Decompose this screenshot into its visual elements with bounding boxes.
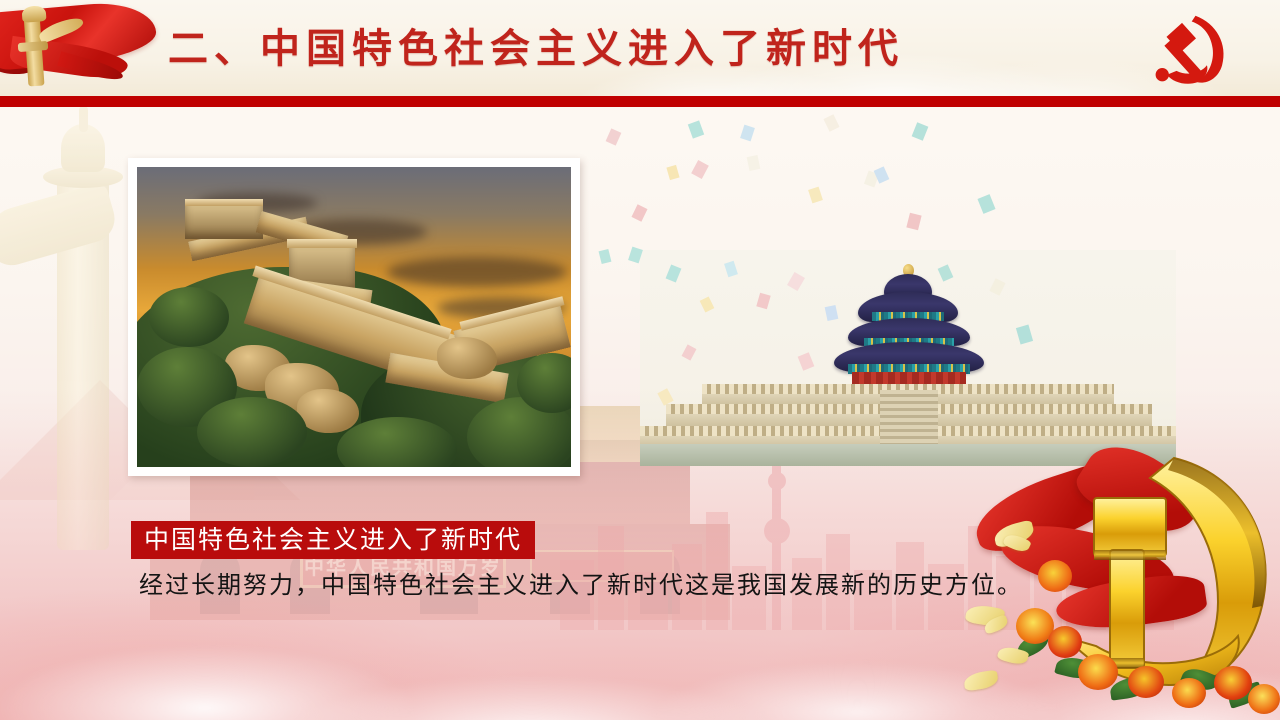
page-title: 二、中国特色社会主义进入了新时代	[168, 16, 904, 82]
party-emblem-decoration	[960, 440, 1280, 720]
slide-header: 二、中国特色社会主义进入了新时代	[0, 0, 1280, 96]
red-flag-icon	[0, 0, 190, 96]
hammer-and-sickle-icon	[1138, 12, 1234, 88]
flower-icon	[1248, 684, 1280, 714]
flower-icon	[1172, 678, 1206, 708]
temple-of-heaven-photo	[640, 250, 1176, 466]
flower-icon	[1214, 666, 1252, 700]
header-red-divider	[0, 96, 1280, 107]
flower-icon	[1038, 560, 1072, 592]
flower-icon	[1048, 626, 1082, 658]
flower-icon	[1078, 654, 1118, 690]
presentation-slide: 中华人民共和国万岁	[0, 0, 1280, 720]
flower-icon	[1128, 666, 1164, 698]
great-wall-photo	[128, 158, 580, 476]
section-caption-label: 中国特色社会主义进入了新时代	[131, 521, 535, 559]
body-paragraph: 经过长期努力，中国特色社会主义进入了新时代这是我国发展新的历史方位。	[139, 566, 1099, 604]
